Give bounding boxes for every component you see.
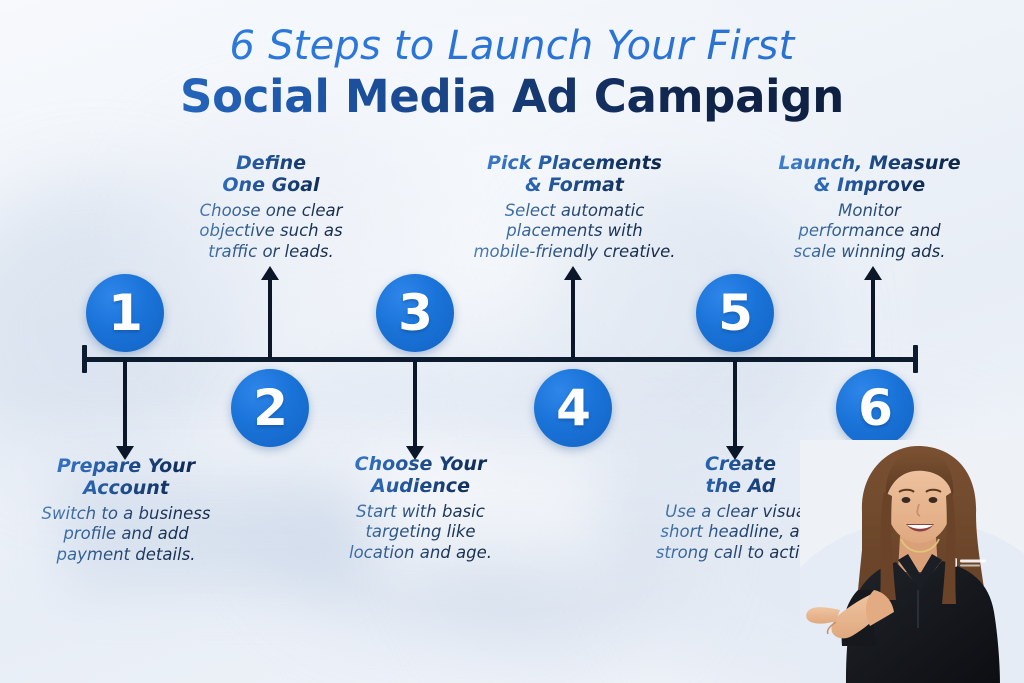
step-text-3: Choose Your Audience Start with basic ta…	[303, 453, 538, 563]
step-text-6: Launch, Measure & Improve Monitor perfor…	[752, 152, 987, 262]
step-heading-2: Define One Goal	[163, 152, 379, 197]
step-number-3: 3	[398, 288, 432, 338]
step-heading-4: Pick Placements & Format	[447, 152, 702, 197]
timeline-end-cap-right	[913, 345, 918, 373]
step-number-5: 5	[718, 288, 752, 338]
title-line-1: 6 Steps to Launch Your First	[0, 24, 1024, 69]
connector-step-6	[871, 278, 875, 358]
step-number-2: 2	[253, 383, 287, 433]
infographic-canvas: 6 Steps to Launch Your First Social Medi…	[0, 0, 1024, 683]
step-number-circle-6[interactable]: 6	[836, 369, 914, 447]
connector-step-5	[733, 360, 737, 448]
page-title: 6 Steps to Launch Your First Social Medi…	[0, 24, 1024, 123]
connector-step-1	[123, 360, 127, 448]
timeline-axis	[82, 357, 918, 362]
step-text-2: Define One Goal Choose one clear objecti…	[163, 152, 379, 262]
connector-step-4	[571, 278, 575, 358]
step-number-6: 6	[858, 383, 892, 433]
title-line-2: Social Media Ad Campaign	[0, 71, 1024, 123]
step-number-circle-1[interactable]: 1	[86, 274, 164, 352]
step-heading-1: Prepare Your Account	[6, 455, 246, 500]
connector-step-2	[268, 278, 272, 358]
step-number-1: 1	[108, 288, 142, 338]
step-body-6: Monitor performance and scale winning ad…	[752, 201, 987, 262]
step-number-circle-3[interactable]: 3	[376, 274, 454, 352]
step-body-2: Choose one clear objective such as traff…	[163, 201, 379, 262]
step-body-1: Switch to a business profile and add pay…	[6, 504, 246, 565]
connector-step-3	[413, 360, 417, 448]
step-text-4: Pick Placements & Format Select automati…	[447, 152, 702, 262]
step-number-circle-4[interactable]: 4	[534, 369, 612, 447]
step-number-circle-5[interactable]: 5	[696, 274, 774, 352]
presenter-photo	[800, 440, 1024, 683]
step-text-1: Prepare Your Account Switch to a busines…	[6, 455, 246, 565]
step-number-circle-2[interactable]: 2	[231, 369, 309, 447]
step-body-4: Select automatic placements with mobile-…	[447, 201, 702, 262]
timeline-end-cap-left	[82, 345, 87, 373]
step-number-4: 4	[556, 383, 590, 433]
step-body-3: Start with basic targeting like location…	[303, 502, 538, 563]
step-heading-3: Choose Your Audience	[303, 453, 538, 498]
step-heading-6: Launch, Measure & Improve	[752, 152, 987, 197]
